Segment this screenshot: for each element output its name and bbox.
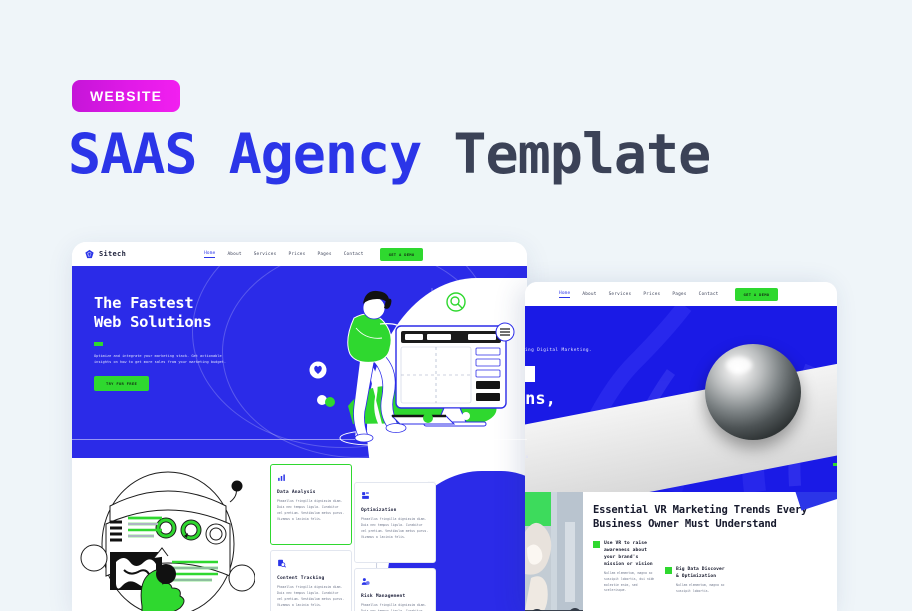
website-mockup-secondary[interactable]: Home About Services Prices Pages Contact… — [525, 282, 837, 611]
feature-card-data-analysis[interactable]: Data Analysis Phasellus fringilla dignis… — [270, 464, 352, 545]
play-video-button[interactable]: PLAY VIDEO — [525, 452, 528, 462]
feature-card-text: Phasellus fringilla dignissim diam. Duis… — [361, 517, 429, 541]
highlight-text: Nullam elementum, magna ac suscipit lobo… — [676, 583, 727, 594]
mockup1-hero-copy: The Fastest Web Solutions Optimize and i… — [94, 294, 254, 391]
page-title: SAAS Agency Template — [68, 124, 710, 185]
article-highlight-item: Use VR to raise awareness about your bra… — [593, 540, 655, 595]
layout-blocks-icon — [361, 491, 370, 500]
mockup2-article-section: Essential VR Marketing Trends Every Busi… — [525, 492, 837, 611]
article-content: Essential VR Marketing Trends Every Busi… — [583, 492, 837, 611]
feature-card-optimization[interactable]: Optimization Phasellus fringilla digniss… — [354, 482, 436, 563]
highlight-title: Big Data Discover & Optimization — [676, 566, 727, 580]
feature-card-content-tracking[interactable]: Content Tracking Phasellus fringilla dig… — [270, 550, 352, 611]
mockup2-nav-links: Home About Services Prices Pages Contact — [559, 291, 719, 298]
hero-white-block — [525, 366, 535, 382]
feature-card-risk-management[interactable]: Risk Management Phasellus fringilla dign… — [354, 568, 436, 611]
nav-link-prices[interactable]: Prices — [643, 292, 660, 297]
sphere-specular-highlight — [726, 357, 752, 373]
chrome-sphere-graphic — [705, 344, 801, 440]
nav-link-home[interactable]: Home — [559, 291, 570, 298]
nav-link-home[interactable]: Home — [204, 251, 215, 258]
nav-link-contact[interactable]: Contact — [699, 292, 719, 297]
website-mockup-primary[interactable]: Sitech Home About Services Prices Pages … — [72, 242, 527, 611]
play-video-label: PLAY VIDEO — [525, 455, 528, 459]
hero-eyebrow: Technology is transforming Digital Marke… — [525, 348, 592, 353]
category-badge: WEBSITE — [72, 80, 180, 112]
hero-heading-line2: Web Solutions — [94, 313, 254, 332]
robot-control-panel-illustration — [80, 466, 255, 611]
showcase-page: WEBSITE SAAS Agency Template Sitech Home… — [0, 0, 912, 611]
user-shield-icon — [361, 577, 370, 586]
nav-link-prices[interactable]: Prices — [288, 252, 305, 257]
nav-link-pages[interactable]: Pages — [318, 252, 332, 257]
mockup2-navbar: Home About Services Prices Pages Contact… — [525, 282, 837, 306]
hero-heading-line1: Connections, — [525, 388, 556, 410]
feature-card-title: Data Analysis — [277, 490, 345, 495]
feature-card-title: Content Tracking — [277, 576, 345, 581]
sphere-green-accent — [833, 463, 837, 466]
hero-heading: The Fastest Web Solutions — [94, 294, 254, 332]
nav-link-contact[interactable]: Contact — [344, 252, 364, 257]
gallery-sculpture-photo — [525, 492, 583, 611]
feature-card-title: Risk Management — [361, 594, 429, 599]
article-highlight-item: Big Data Discover & Optimization Nullam … — [665, 566, 727, 595]
nav-link-about[interactable]: About — [227, 252, 241, 257]
feature-card-text: Phasellus fringilla dignissim diam. Duis… — [361, 603, 429, 611]
mockup1-features-section: Data Analysis Phasellus fringilla dignis… — [72, 458, 527, 611]
page-title-accent: SAAS Agency — [68, 122, 421, 186]
nav-link-services[interactable]: Services — [254, 252, 277, 257]
nav-link-pages[interactable]: Pages — [672, 292, 686, 297]
mockup2-hero: Technology is transforming Digital Marke… — [525, 306, 837, 492]
hero-accent-dash — [94, 342, 103, 346]
bullet-marker-icon — [593, 541, 600, 548]
article-title: Essential VR Marketing Trends Every Busi… — [593, 504, 829, 532]
magnifier-document-icon — [277, 559, 286, 568]
hero-heading-line1: The Fastest — [94, 294, 254, 313]
feature-card-text: Phasellus fringilla dignissim diam. Duis… — [277, 585, 345, 609]
get-a-demo-button[interactable]: GET A DEMO — [380, 248, 424, 261]
feature-card-title: Optimization — [361, 508, 429, 513]
sitech-logo-icon — [84, 249, 95, 260]
bar-chart-icon — [277, 473, 286, 482]
hero-paragraph: Optimize and integrate your marketing st… — [94, 353, 234, 366]
nav-link-services[interactable]: Services — [609, 292, 632, 297]
triangle-icon — [426, 298, 438, 308]
highlight-text: Nullam elementum, magna ac suscipit lobo… — [604, 571, 655, 594]
brand-logo[interactable]: Sitech — [84, 249, 126, 260]
hero-cta-button[interactable]: TRY FOR FREE — [94, 376, 149, 391]
mockup2-hero-actions: PLAY VIDEO — [525, 450, 528, 464]
page-title-dark: Template — [421, 122, 710, 186]
feature-card-text: Phasellus fringilla dignissim diam. Duis… — [277, 499, 345, 523]
nav-link-about[interactable]: About — [582, 292, 596, 297]
mockup1-hero: The Fastest Web Solutions Optimize and i… — [72, 266, 527, 458]
get-a-demo-button[interactable]: GET A DEMO — [735, 288, 779, 301]
highlight-title: Use VR to raise awareness about your bra… — [604, 540, 655, 568]
mockup1-navbar: Sitech Home About Services Prices Pages … — [72, 242, 527, 266]
brand-name: Sitech — [99, 250, 126, 258]
article-highlights: Use VR to raise awareness about your bra… — [593, 540, 829, 595]
mockup1-nav-links: Home About Services Prices Pages Contact — [204, 251, 364, 258]
person-with-monitor-illustration — [308, 288, 523, 458]
hero-heading: Connections, Links — [525, 388, 556, 432]
bullet-marker-icon — [665, 567, 672, 574]
